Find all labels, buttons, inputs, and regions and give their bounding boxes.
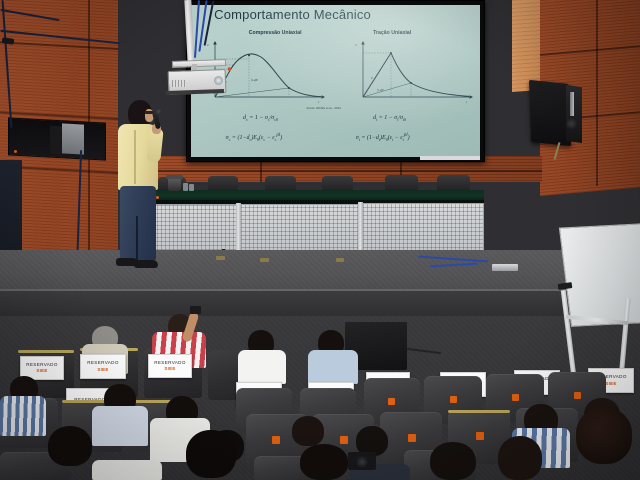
audience-head-d2 xyxy=(186,430,236,478)
projector-vent xyxy=(172,80,186,87)
reserved-sign-a2: RESERVADO SIEE xyxy=(80,354,126,379)
presenter-pants-split xyxy=(136,216,138,260)
drinking-glass-2 xyxy=(189,184,194,191)
presenter-pants xyxy=(120,186,156,260)
slide-glare xyxy=(191,5,480,157)
stage-edge-highlight xyxy=(0,289,640,291)
audience-curly-hair xyxy=(576,408,632,464)
audience-head-d1 xyxy=(48,426,92,466)
booth-indicator-light xyxy=(14,150,17,153)
floor-outlet-2 xyxy=(260,258,269,262)
table-panel-post-1 xyxy=(236,203,241,252)
booth-equipment-dark xyxy=(50,126,62,155)
table-panel-post-2 xyxy=(358,202,363,252)
projector-lens xyxy=(214,76,223,85)
seat-trim-c-7 xyxy=(448,410,510,413)
presenter-mic-head xyxy=(154,107,162,115)
seat-badge-c5 xyxy=(408,434,416,442)
audience-head-b5 xyxy=(292,416,324,446)
seat-badge-b1 xyxy=(388,398,395,405)
audience-head-d3 xyxy=(300,444,348,480)
presenter xyxy=(112,100,176,280)
sign-reserved-text: RESERVADO xyxy=(154,361,186,366)
sign-org-text: SIEE xyxy=(97,368,108,372)
seat-badge-c6 xyxy=(476,432,484,440)
projection-screen: Comportamento Mecânico Compressão Uniaxi… xyxy=(186,0,485,162)
seat-badge-c4 xyxy=(340,436,348,444)
floor-outlet-3 xyxy=(336,258,344,262)
audience-torso-b2 xyxy=(92,406,148,446)
seat-badge-b3 xyxy=(512,394,519,401)
wall-seam-right-v xyxy=(596,0,598,186)
floor-plate-metal xyxy=(492,264,518,271)
speaker-knob xyxy=(566,118,577,129)
sign-reserved-text: RESERVADO xyxy=(87,361,119,366)
audience-camera-lens xyxy=(356,456,368,468)
stage-front-face xyxy=(0,291,640,319)
sign-org-text: SIEE xyxy=(36,369,47,373)
sign-org-text: SIEE xyxy=(164,367,175,371)
reserved-sign-a3: RESERVADO SIEE xyxy=(148,354,192,378)
floor-outlet-1 xyxy=(216,256,225,260)
presentation-slide: Comportamento Mecânico Compressão Uniaxi… xyxy=(191,5,480,157)
seat-badge-c3 xyxy=(272,436,280,444)
wall-panel-light-strip xyxy=(512,0,542,92)
presenter-shirt-fold xyxy=(134,130,136,184)
audience-torso-b1 xyxy=(0,396,46,436)
sign-reserved-text: RESERVADO xyxy=(26,363,58,368)
audience-head-d5 xyxy=(498,436,542,480)
audience-head-d4 xyxy=(430,442,476,480)
audience-torso-d1 xyxy=(92,460,162,480)
seat-badge-b4 xyxy=(574,392,581,399)
audience-torso-a4 xyxy=(308,350,358,384)
auditorium-photo: Comportamento Mecânico Compressão Uniaxi… xyxy=(0,0,640,480)
presenter-shoe-right xyxy=(134,260,158,268)
seat-trim-a-1 xyxy=(18,350,74,353)
audience-camera-phone[interactable] xyxy=(190,306,201,314)
sign-org-text: SIEE xyxy=(605,382,616,386)
wall-band-seam xyxy=(118,170,542,172)
table-modesty-panel-3 xyxy=(362,203,484,253)
drinking-glass-1 xyxy=(183,183,188,191)
wall-speaker xyxy=(529,80,571,146)
speaker-bracket xyxy=(566,85,582,143)
audience-torso-a3 xyxy=(238,350,286,384)
speaker-bracket-rod xyxy=(570,92,574,116)
table-modesty-panel-2 xyxy=(240,204,362,253)
seat-badge-b2 xyxy=(450,396,457,403)
screen-control-strip xyxy=(420,156,480,160)
